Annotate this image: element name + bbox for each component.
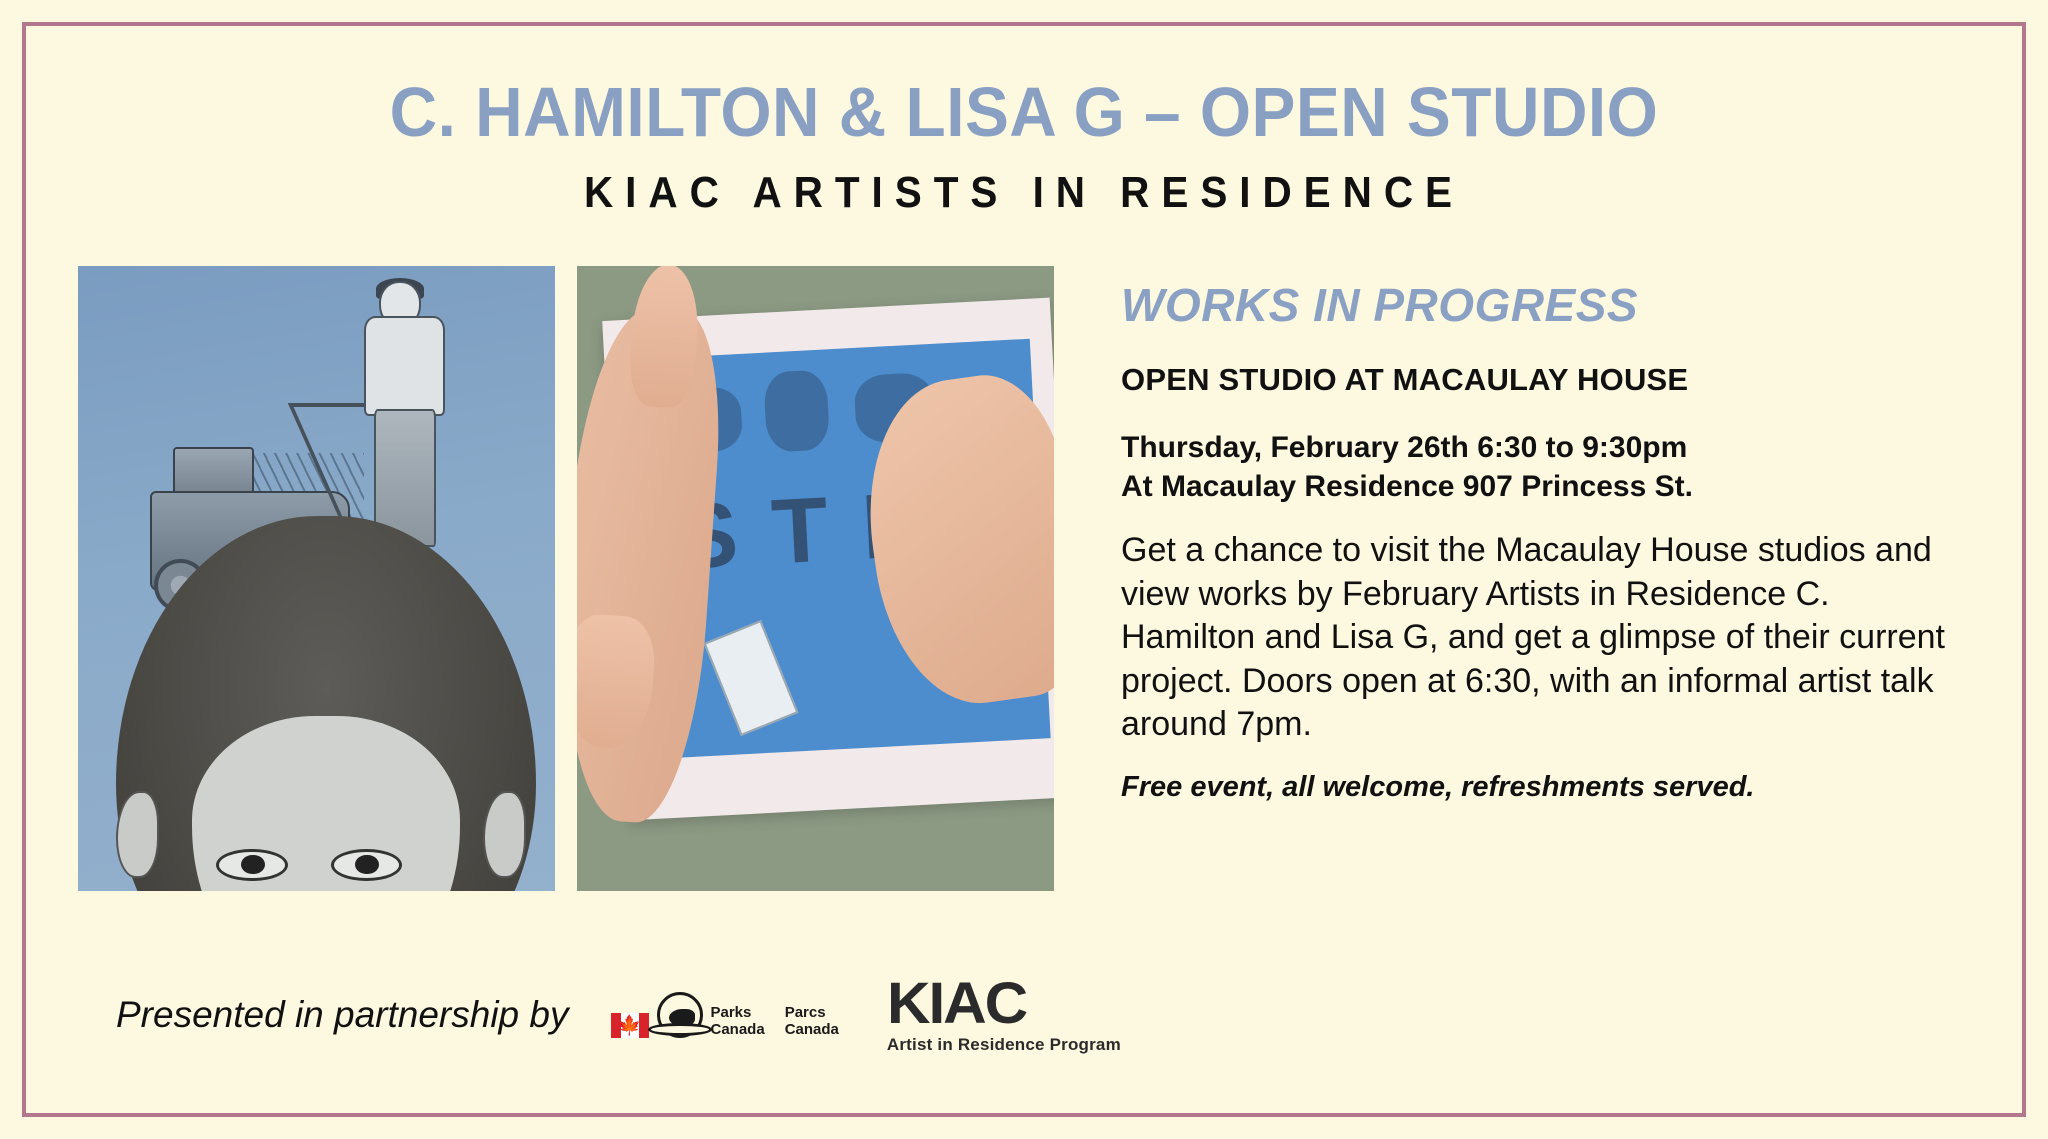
poster-root: C. HAMILTON & LISA G – OPEN STUDIO KIAC … <box>0 0 2048 1139</box>
page-subtitle: KIAC ARTISTS IN RESIDENCE <box>106 168 1942 218</box>
canada-flag-icon: 🍁 <box>611 1013 649 1038</box>
event-description: Get a chance to visit the Macaulay House… <box>1121 529 1962 747</box>
parks-canada-beaver-base <box>648 1023 712 1036</box>
event-datetime-block: Thursday, February 26th 6:30 to 9:30pm A… <box>1121 428 1962 508</box>
poster-content: STE WORKS IN PROGRESS OPEN STUDIO AT MAC… <box>26 218 2022 891</box>
parks-canada-french: Parcs Canada <box>785 1005 839 1038</box>
poster-header: C. HAMILTON & LISA G – OPEN STUDIO KIAC … <box>26 26 2022 218</box>
event-address: At Macaulay Residence 907 Princess St. <box>1121 467 1962 507</box>
page-title: C. HAMILTON & LISA G – OPEN STUDIO <box>86 76 1962 150</box>
boy-eye-left <box>216 849 288 882</box>
event-details-column: WORKS IN PROGRESS OPEN STUDIO AT MACAULA… <box>1054 266 2022 804</box>
boy-ear-right <box>483 791 526 879</box>
kiac-tagline: Artist in Residence Program <box>887 1035 1121 1055</box>
man-torso-shape <box>364 316 445 416</box>
open-studio-location-heading: OPEN STUDIO AT MACAULAY HOUSE <box>1121 362 1962 398</box>
finger-shape <box>627 266 703 411</box>
boy-eye-right <box>331 849 403 882</box>
poster-frame: C. HAMILTON & LISA G – OPEN STUDIO KIAC … <box>22 22 2026 1117</box>
kiac-logo: KIAC Artist in Residence Program <box>887 976 1121 1055</box>
kiac-wordmark: KIAC <box>887 976 1130 1031</box>
works-in-progress-heading: WORKS IN PROGRESS <box>1121 278 1962 332</box>
photo-hands-blue-print-image: STE <box>577 266 1054 891</box>
parks-canada-wordmark: Parks Canada Parcs Canada <box>711 1005 839 1038</box>
parks-canada-logo: 🍁 Parks Canada Parcs Canada <box>611 992 839 1038</box>
boy-ear-left <box>116 791 159 879</box>
event-date-time: Thursday, February 26th 6:30 to 9:30pm <box>1121 428 1962 468</box>
free-event-note: Free event, all welcome, refreshments se… <box>1121 771 1962 804</box>
footer-partners: Presented in partnership by 🍁 Parks Cana… <box>116 976 1121 1055</box>
parks-canada-english: Parks Canada <box>711 1005 765 1038</box>
image-gallery: STE <box>78 266 1054 891</box>
ink-smudge <box>763 370 830 453</box>
finger-shape <box>577 612 658 751</box>
presented-by-label: Presented in partnership by <box>116 994 569 1036</box>
pencil-drawing-head-lawnmower-image <box>78 266 555 891</box>
